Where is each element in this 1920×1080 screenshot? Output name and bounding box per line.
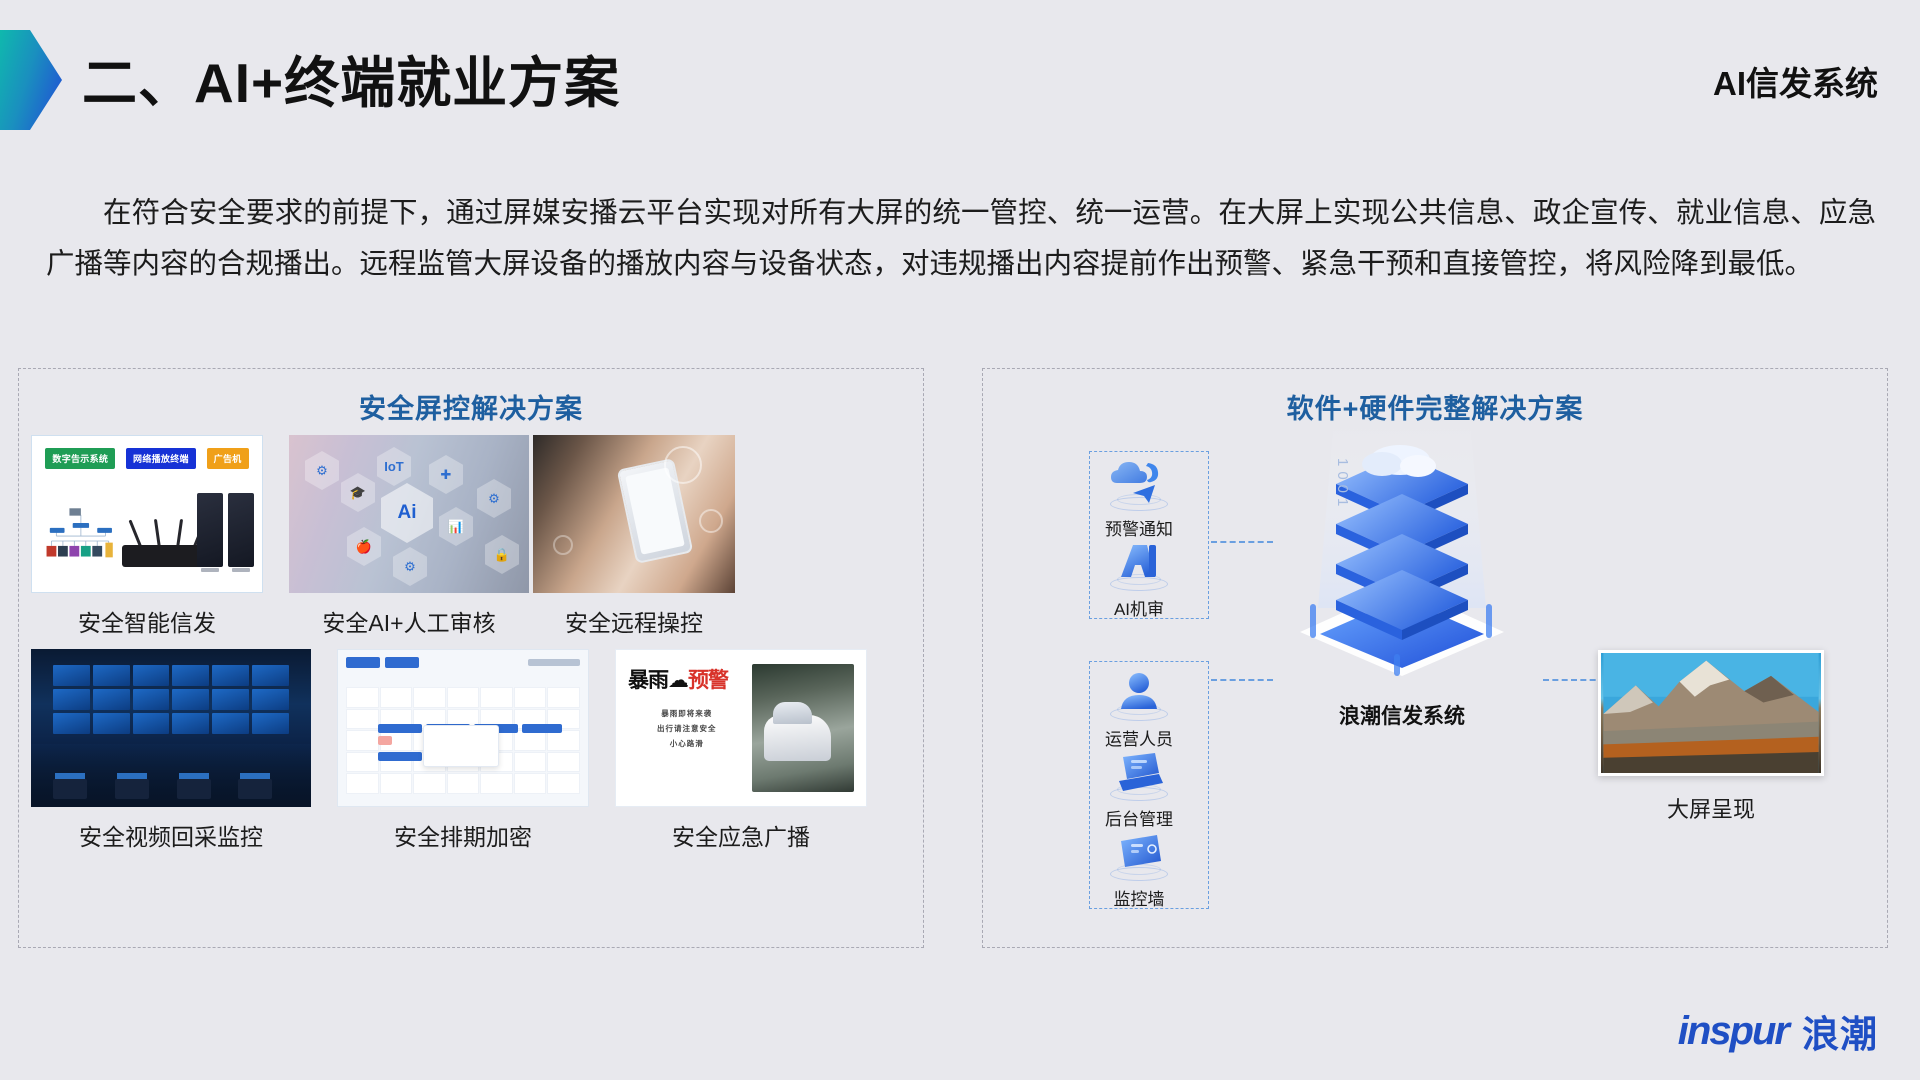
card-schedule-caption: 安全排期加密 xyxy=(337,818,589,852)
ai-hex-label: Ai xyxy=(381,483,433,543)
node-alert-notification[interactable]: 预警通知 xyxy=(1084,457,1194,540)
network-topology-icon xyxy=(40,497,122,567)
card-ai-review-caption: 安全AI+人工审核 xyxy=(289,604,529,638)
card-video-monitor-caption: 安全视频回采监控 xyxy=(31,818,311,852)
card-signage-caption: 安全智能信发 xyxy=(31,604,263,638)
inspur-logo: inspur 浪潮 xyxy=(1678,1004,1878,1058)
router-device-icon xyxy=(122,519,197,567)
slide-root: 二、AI+终端就业方案 AI信发系统 在符合安全要求的前提下，通过屏媒安播云平台… xyxy=(0,0,1920,1080)
page-title: 二、AI+终端就业方案 xyxy=(82,38,620,118)
card-schedule-thumb xyxy=(337,649,589,807)
ai-review-icon xyxy=(1103,537,1175,593)
node-monitor-wall-label: 监控墙 xyxy=(1084,885,1194,910)
logo-wordmark: inspur xyxy=(1678,1009,1788,1054)
large-screen-display-icon xyxy=(1598,650,1824,776)
rain-alert-lines: 暴雨即将来袭 出行请注意安全 小心路滑 xyxy=(628,708,746,749)
card-video-monitor[interactable]: 安全视频回采监控 xyxy=(31,649,311,852)
connector-alert-to-server xyxy=(1211,541,1273,543)
card-signage-thumb: 数字告示系统 网络播放终端 广告机 xyxy=(31,435,263,593)
card-emergency-caption: 安全应急广播 xyxy=(615,818,867,852)
binary-digits: 1001 xyxy=(1334,458,1351,511)
video-wall-icon xyxy=(53,665,288,735)
connector-server-to-screen xyxy=(1543,679,1605,681)
card-ai-review[interactable]: ⚙ 🎓 IoT Ai ✚ 📊 ⚙ 🍎 ⚙ 🔒 安全AI+人工审核 xyxy=(289,435,529,638)
monitor-wall-icon xyxy=(1103,827,1175,883)
card-remote-control-caption: 安全远程操控 xyxy=(533,604,735,638)
schedule-date xyxy=(528,659,580,666)
connector-ops-to-server xyxy=(1211,679,1273,681)
node-ai-review-label: AI机审 xyxy=(1084,595,1194,620)
card-video-monitor-thumb xyxy=(31,649,311,807)
schedule-add-button[interactable] xyxy=(346,657,380,668)
badge-digital-signage: 数字告示系统 xyxy=(45,448,115,469)
server-stack-icon: 1001 xyxy=(1272,418,1532,688)
node-ai-review[interactable]: AI机审 xyxy=(1084,537,1194,620)
ad-machine-icon xyxy=(197,493,254,567)
node-backend-admin[interactable]: 后台管理 xyxy=(1084,747,1194,830)
card-remote-control[interactable]: 安全远程操控 xyxy=(533,435,735,638)
header-arrow-icon xyxy=(0,30,62,130)
card-schedule-encrypt[interactable]: 安全排期加密 xyxy=(337,649,589,852)
rain-alert-title: 暴雨☁预警 xyxy=(628,664,746,694)
logo-chinese: 浪潮 xyxy=(1802,1004,1878,1058)
badge-network-player: 网络播放终端 xyxy=(126,448,196,469)
schedule-event-popover xyxy=(423,725,499,767)
card-remote-control-thumb xyxy=(533,435,735,593)
large-screen-caption: 大屏呈现 xyxy=(1598,792,1824,824)
left-panel: 安全屏控解决方案 数字告示系统 网络播放终端 广告机 xyxy=(18,368,924,948)
node-operator[interactable]: 运营人员 xyxy=(1084,667,1194,750)
alert-notification-icon xyxy=(1103,457,1175,513)
server-label: 浪潮信发系统 xyxy=(1272,700,1532,730)
laptop-admin-icon xyxy=(1103,747,1175,803)
node-monitor-wall[interactable]: 监控墙 xyxy=(1084,827,1194,910)
card-ai-review-thumb: ⚙ 🎓 IoT Ai ✚ 📊 ⚙ 🍎 ⚙ 🔒 xyxy=(289,435,529,593)
operator-person-icon xyxy=(1103,667,1175,723)
body-paragraph: 在符合安全要求的前提下，通过屏媒安播云平台实现对所有大屏的统一管控、统一运营。在… xyxy=(46,188,1876,290)
card-signage[interactable]: 数字告示系统 网络播放终端 广告机 xyxy=(31,435,263,638)
system-title: AI信发系统 xyxy=(1713,57,1878,105)
left-panel-title: 安全屏控解决方案 xyxy=(19,387,923,426)
card-emergency-thumb: 暴雨☁预警 暴雨即将来袭 出行请注意安全 小心路滑 xyxy=(615,649,867,807)
rain-car-photo xyxy=(752,664,854,792)
badge-ad-machine: 广告机 xyxy=(207,448,249,469)
schedule-publish-button[interactable] xyxy=(385,657,419,668)
card-emergency-broadcast[interactable]: 暴雨☁预警 暴雨即将来袭 出行请注意安全 小心路滑 安全应急广播 xyxy=(615,649,867,852)
operator-desks xyxy=(31,744,311,807)
